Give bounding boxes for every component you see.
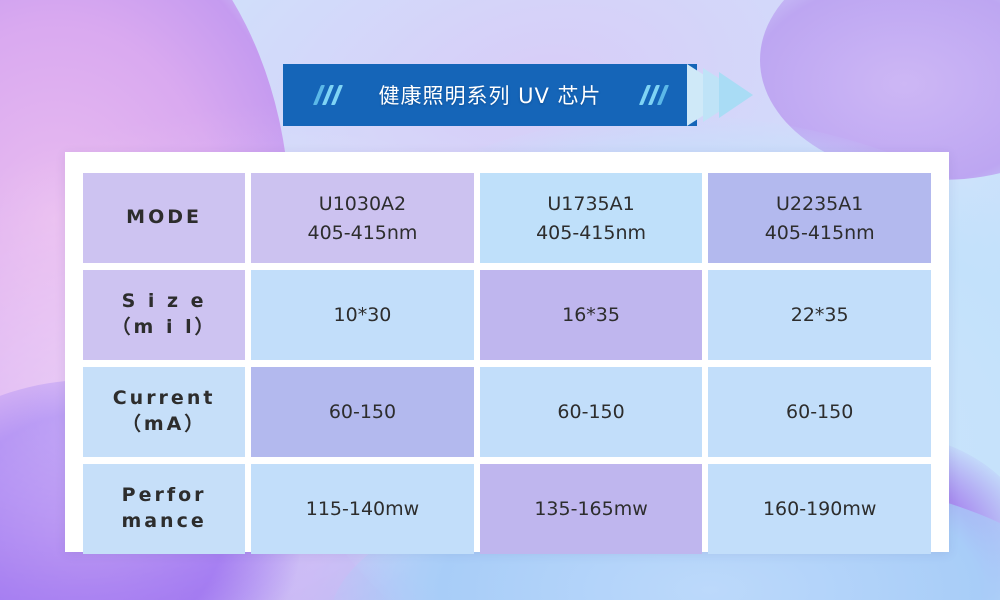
cell-value: 60-150 bbox=[709, 401, 930, 423]
table-row: MODE U1030A2 405-415nm U1735A1 405-415nm… bbox=[83, 173, 931, 263]
cell-current-1: 60-150 bbox=[251, 367, 474, 457]
cell-value: 10*30 bbox=[252, 304, 473, 326]
cell-value: U1735A1 bbox=[481, 193, 702, 215]
row-label-line1: S i z e bbox=[122, 290, 207, 312]
table-row: S i z e （m i l） 10*30 16*35 22*35 bbox=[83, 270, 931, 360]
cell-mode-3: U2235A1 405-415nm bbox=[708, 173, 931, 263]
row-label-performance: Perfor mance bbox=[83, 464, 245, 554]
banner-shape bbox=[283, 64, 753, 126]
row-label-line2: （m i l） bbox=[112, 316, 217, 338]
cell-performance-2: 135-165mw bbox=[480, 464, 703, 554]
cell-value: 22*35 bbox=[709, 304, 930, 326]
cell-size-3: 22*35 bbox=[708, 270, 931, 360]
cell-value: 115-140mw bbox=[252, 498, 473, 520]
banner: 健康照明系列 UV 芯片 bbox=[283, 64, 753, 126]
row-label-current: Current （mA） bbox=[83, 367, 245, 457]
cell-size-2: 16*35 bbox=[480, 270, 703, 360]
row-label-size: S i z e （m i l） bbox=[83, 270, 245, 360]
cell-value: 16*35 bbox=[481, 304, 702, 326]
cell-mode-2: U1735A1 405-415nm bbox=[480, 173, 703, 263]
row-label-line2: （mA） bbox=[122, 413, 207, 435]
cell-current-3: 60-150 bbox=[708, 367, 931, 457]
spec-table: MODE U1030A2 405-415nm U1735A1 405-415nm… bbox=[77, 166, 937, 561]
row-label-line1: Perfor bbox=[122, 484, 207, 506]
cell-mode-1: U1030A2 405-415nm bbox=[251, 173, 474, 263]
cell-subvalue: 405-415nm bbox=[709, 222, 930, 244]
cell-value: 60-150 bbox=[252, 401, 473, 423]
cell-size-1: 10*30 bbox=[251, 270, 474, 360]
cell-performance-3: 160-190mw bbox=[708, 464, 931, 554]
cell-subvalue: 405-415nm bbox=[252, 222, 473, 244]
row-label-line2: mance bbox=[121, 510, 206, 532]
table-row: Current （mA） 60-150 60-150 60-150 bbox=[83, 367, 931, 457]
poster-canvas: 健康照明系列 UV 芯片 MODE U1030A2 405-415nm U173… bbox=[0, 0, 1000, 600]
cell-performance-1: 115-140mw bbox=[251, 464, 474, 554]
table-row: Perfor mance 115-140mw 135-165mw 160-190… bbox=[83, 464, 931, 554]
row-label-line1: Current bbox=[113, 387, 216, 409]
cell-value: U2235A1 bbox=[709, 193, 930, 215]
cell-current-2: 60-150 bbox=[480, 367, 703, 457]
cell-value: U1030A2 bbox=[252, 193, 473, 215]
cell-value: 60-150 bbox=[481, 401, 702, 423]
spec-table-card: MODE U1030A2 405-415nm U1735A1 405-415nm… bbox=[65, 152, 949, 552]
cell-subvalue: 405-415nm bbox=[481, 222, 702, 244]
cell-value: 135-165mw bbox=[481, 498, 702, 520]
cell-value: 160-190mw bbox=[709, 498, 930, 520]
row-label-mode: MODE bbox=[83, 173, 245, 263]
